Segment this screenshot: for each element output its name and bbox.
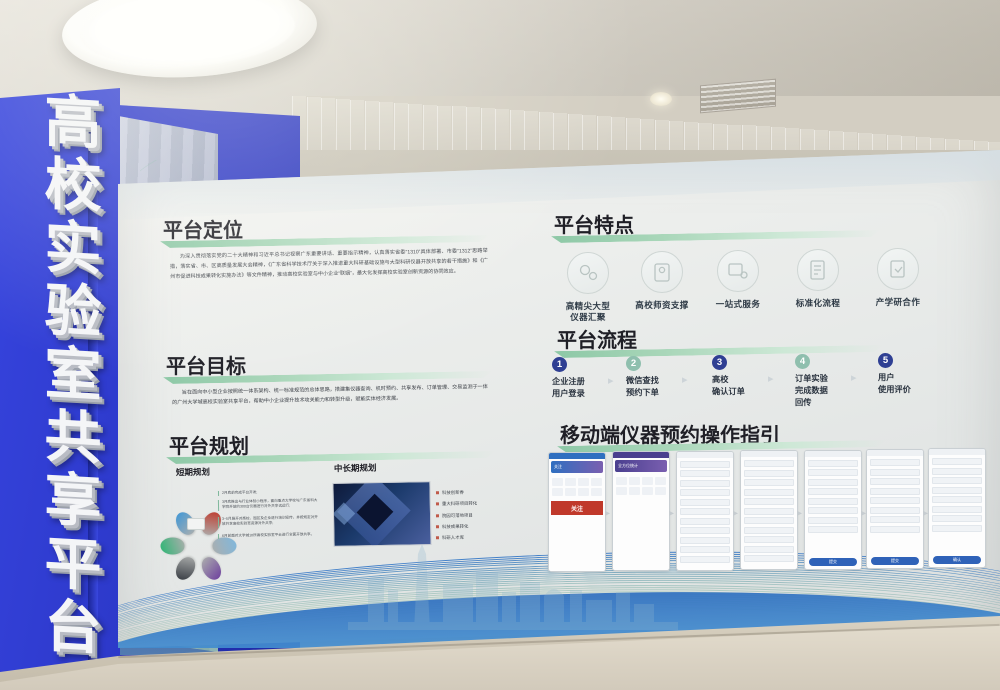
short-term-title: 短期规划 bbox=[176, 466, 210, 479]
flow-arrow: ▸ bbox=[851, 371, 857, 384]
feature-item: 高校师资支撑 bbox=[630, 251, 694, 311]
phone-screen-instrument-category bbox=[740, 450, 798, 570]
handshake-icon bbox=[877, 248, 919, 290]
phone-submit-button: 提交 bbox=[871, 557, 919, 565]
phone-flow-arrow: ▸ bbox=[797, 508, 802, 519]
flow-step-number: 1 bbox=[552, 357, 567, 372]
feature-label: 高精尖大型 仪器汇聚 bbox=[556, 301, 620, 324]
wall-title-char: 实 bbox=[45, 221, 102, 279]
mid-long-term-bullet: 科研人才库 bbox=[436, 535, 464, 542]
features-heading: 平台特点 bbox=[554, 209, 634, 238]
wall-title-char: 共 bbox=[45, 410, 102, 468]
phone-screen-mini-program-home: 全方位统计 bbox=[612, 451, 670, 571]
wall-title-char: 台 bbox=[45, 599, 102, 657]
vertical-wall-title: 高校实验室共享平台 bbox=[30, 94, 116, 659]
phone-flow-arrow: ▸ bbox=[733, 508, 738, 519]
wall-title-char: 室 bbox=[45, 347, 102, 405]
checklist-icon bbox=[797, 249, 839, 291]
feature-label: 一站式服务 bbox=[706, 299, 770, 310]
goals-heading: 平台目标 bbox=[166, 350, 246, 379]
gears-icon bbox=[567, 252, 609, 294]
feature-item: 标准化流程 bbox=[786, 249, 850, 309]
flower-petal bbox=[161, 538, 185, 555]
flow-step-label: 企业注册 用户登录 bbox=[552, 376, 585, 400]
feature-label: 高校师资支撑 bbox=[630, 300, 694, 311]
flow-step: 4订单实验 完成数据 回传 bbox=[795, 354, 828, 409]
mid-long-term-image bbox=[332, 481, 431, 547]
flow-step: 2微信查找 预约下单 bbox=[626, 356, 659, 399]
flow-step-label: 微信查找 预约下单 bbox=[626, 375, 659, 399]
flow-step: 1企业注册 用户登录 bbox=[552, 357, 585, 400]
flow-step: 5用户 使用评价 bbox=[878, 353, 911, 396]
flow-step-number: 3 bbox=[712, 355, 727, 370]
mid-long-term-title: 中长期规划 bbox=[334, 462, 377, 475]
ceiling-spotlight bbox=[650, 92, 672, 106]
wall-title-char: 验 bbox=[45, 284, 102, 342]
service-icon bbox=[717, 250, 759, 292]
phone-banner: 全方位统计 bbox=[615, 460, 667, 472]
flow-step-label: 订单实验 完成数据 回传 bbox=[795, 373, 828, 409]
flower-hub bbox=[187, 518, 205, 530]
phone-flow-arrow: ▸ bbox=[669, 508, 674, 519]
flower-petal bbox=[213, 538, 237, 555]
flow-step-number: 4 bbox=[795, 354, 810, 369]
feature-item: 产学研合作 bbox=[866, 248, 930, 308]
wall-title-char: 享 bbox=[45, 473, 102, 531]
short-term-item: 3月底推出与行业体验小程序，面向重点大学校与广东省科大学院开放约300台仪器进行… bbox=[218, 498, 320, 511]
mid-long-term-bullet: 院园可落地项目 bbox=[436, 512, 473, 519]
planning-heading: 平台规划 bbox=[169, 430, 249, 459]
mid-long-term-bullet: 重大科研项目转化 bbox=[436, 501, 477, 508]
flow-step: 3高校 确认订单 bbox=[712, 355, 745, 398]
flow-step-number: 2 bbox=[626, 356, 641, 371]
feature-item: 一站式服务 bbox=[706, 250, 770, 310]
phone-screen-order-confirm: 确认 bbox=[928, 448, 986, 568]
short-term-item: 3~5月展开对高校、园区及企业进行培训宣传，并按规定对开放共享高校实验室资源对外… bbox=[218, 515, 320, 528]
flow-arrow: ▸ bbox=[682, 373, 688, 386]
flow-step-number: 5 bbox=[878, 353, 893, 368]
phone-screen-instrument-list bbox=[676, 451, 734, 571]
phone-submit-button: 确认 bbox=[933, 556, 981, 564]
flow-step-label: 用户 使用评价 bbox=[878, 372, 911, 396]
phone-screen-order-detail: 提交 bbox=[866, 449, 924, 569]
wall-title-char: 平 bbox=[45, 536, 102, 594]
flow-arrow: ▸ bbox=[608, 374, 614, 387]
mid-long-term-bullet: 科技成果转化 bbox=[436, 524, 468, 531]
feature-label: 产学研合作 bbox=[866, 297, 930, 308]
flow-heading: 平台流程 bbox=[557, 324, 637, 353]
phone-screen-wechat-discover: 关注关注 bbox=[548, 452, 606, 572]
phone-banner: 关注 bbox=[551, 461, 603, 473]
phone-flow-arrow: ▸ bbox=[605, 508, 610, 519]
wall-title-char: 校 bbox=[45, 157, 102, 215]
wall-title-char: 高 bbox=[45, 94, 102, 152]
positioning-body: 为深入贯彻落实党的二十大精神和习近平总书记视察广东重要讲话、重要指示精神，认真落… bbox=[170, 247, 489, 283]
flow-step-label: 高校 确认订单 bbox=[712, 374, 745, 398]
phone-follow-banner: 关注 bbox=[551, 501, 603, 515]
screenshot-root: 高校实验室共享平台 平台定位 为深入贯彻落实党的二十大精神和习近平总书记视察广东… bbox=[0, 0, 1000, 690]
feature-label: 标准化流程 bbox=[786, 298, 850, 309]
positioning-heading: 平台定位 bbox=[163, 214, 243, 243]
feature-item: 高精尖大型 仪器汇聚 bbox=[556, 252, 620, 324]
phone-submit-button: 提交 bbox=[809, 558, 857, 566]
flow-arrow: ▸ bbox=[768, 372, 774, 385]
teacher-icon bbox=[641, 251, 683, 293]
phone-screen-booking-form: 提交 bbox=[804, 450, 862, 570]
mid-long-term-bullet: 科技创新券 bbox=[436, 490, 464, 497]
